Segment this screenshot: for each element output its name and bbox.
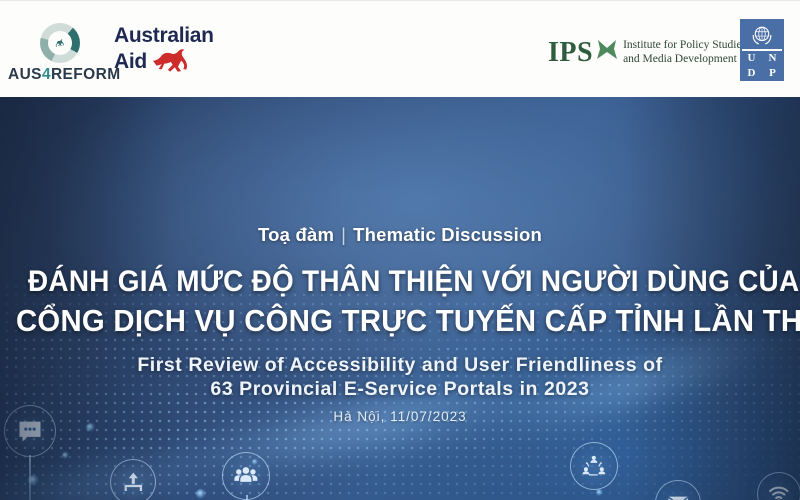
- network-collaboration-glyph: [581, 453, 607, 479]
- people-group-glyph: [233, 463, 259, 489]
- kicker-line: Toạ đàm|Thematic Discussion: [0, 224, 800, 246]
- ips-name-line2: and Media Development: [623, 53, 737, 65]
- bokeh-dot: [196, 489, 206, 499]
- ips-name-line1: Institute for Policy Studies: [623, 39, 746, 51]
- page-title-vi-line2: CỔNG DỊCH VỤ CÔNG TRỰC TUYẾN CẤP TỈNH LẦ…: [16, 304, 784, 339]
- wifi-glyph: [767, 482, 791, 500]
- envelope-glyph: [666, 491, 691, 500]
- aus4reform-wordmark: AUS4REFORM: [8, 66, 112, 84]
- logo-header-bar: AUS4REFORM Australian Aid IPS Institute …: [0, 0, 800, 97]
- page-title-vi-line1: ĐÁNH GIÁ MỨC ĐỘ THÂN THIỆN VỚI NGƯỜI DÙN…: [28, 265, 772, 299]
- presentation-slide: AUS4REFORM Australian Aid IPS Institute …: [0, 0, 800, 500]
- ips-cross-icon: [595, 38, 619, 62]
- australian-aid-line1: Australian: [114, 25, 224, 46]
- network-collaboration-icon: [570, 442, 618, 490]
- aus4reform-accent: 4: [42, 66, 51, 83]
- kicker-separator: |: [341, 224, 346, 245]
- title-banner: Toạ đàm|Thematic Discussion ĐÁNH GIÁ MỨC…: [0, 97, 800, 500]
- ips-mark: IPS: [548, 37, 593, 69]
- bokeh-dot: [596, 489, 603, 496]
- undp-logo: U N D P: [740, 19, 784, 81]
- kangaroo-icon: [52, 35, 69, 51]
- kangaroo-icon: [151, 46, 207, 72]
- subtitle-en-line1: First Review of Accessibility and User F…: [0, 354, 800, 377]
- aus4reform-logo: AUS4REFORM: [8, 23, 112, 85]
- undp-letter-grid: U N D P: [742, 51, 782, 79]
- un-emblem-icon: [742, 21, 782, 51]
- undp-letter-n: N: [763, 51, 782, 64]
- australian-aid-line2: Aid: [114, 51, 147, 72]
- icon-beam: [29, 455, 31, 500]
- un-globe-laurel-icon: [749, 22, 775, 48]
- upload-icon: [110, 459, 156, 500]
- ips-logo: IPS Institute for Policy Studies and Med…: [548, 31, 746, 75]
- undp-letter-u: U: [742, 51, 761, 64]
- ips-full-name: Institute for Policy Studies and Media D…: [623, 39, 746, 66]
- upload-glyph: [121, 470, 146, 495]
- kicker-en: Thematic Discussion: [353, 224, 542, 245]
- aus4reform-pre: AUS: [8, 66, 42, 83]
- subtitle-en-line2: 63 Provincial E-Service Portals in 2023: [0, 378, 800, 401]
- australian-aid-logo: Australian Aid: [114, 25, 224, 81]
- undp-letter-d: D: [742, 66, 761, 79]
- place-and-date: Hà Nội, 11/07/2023: [0, 409, 800, 424]
- aus4reform-post: REFORM: [51, 66, 121, 83]
- undp-letter-p: P: [763, 66, 782, 79]
- kicker-vi: Toạ đàm: [258, 224, 334, 245]
- bokeh-dot: [62, 452, 69, 459]
- australian-aid-line2-row: Aid: [114, 46, 224, 72]
- bokeh-dot: [86, 423, 95, 432]
- people-group-icon: [222, 452, 270, 500]
